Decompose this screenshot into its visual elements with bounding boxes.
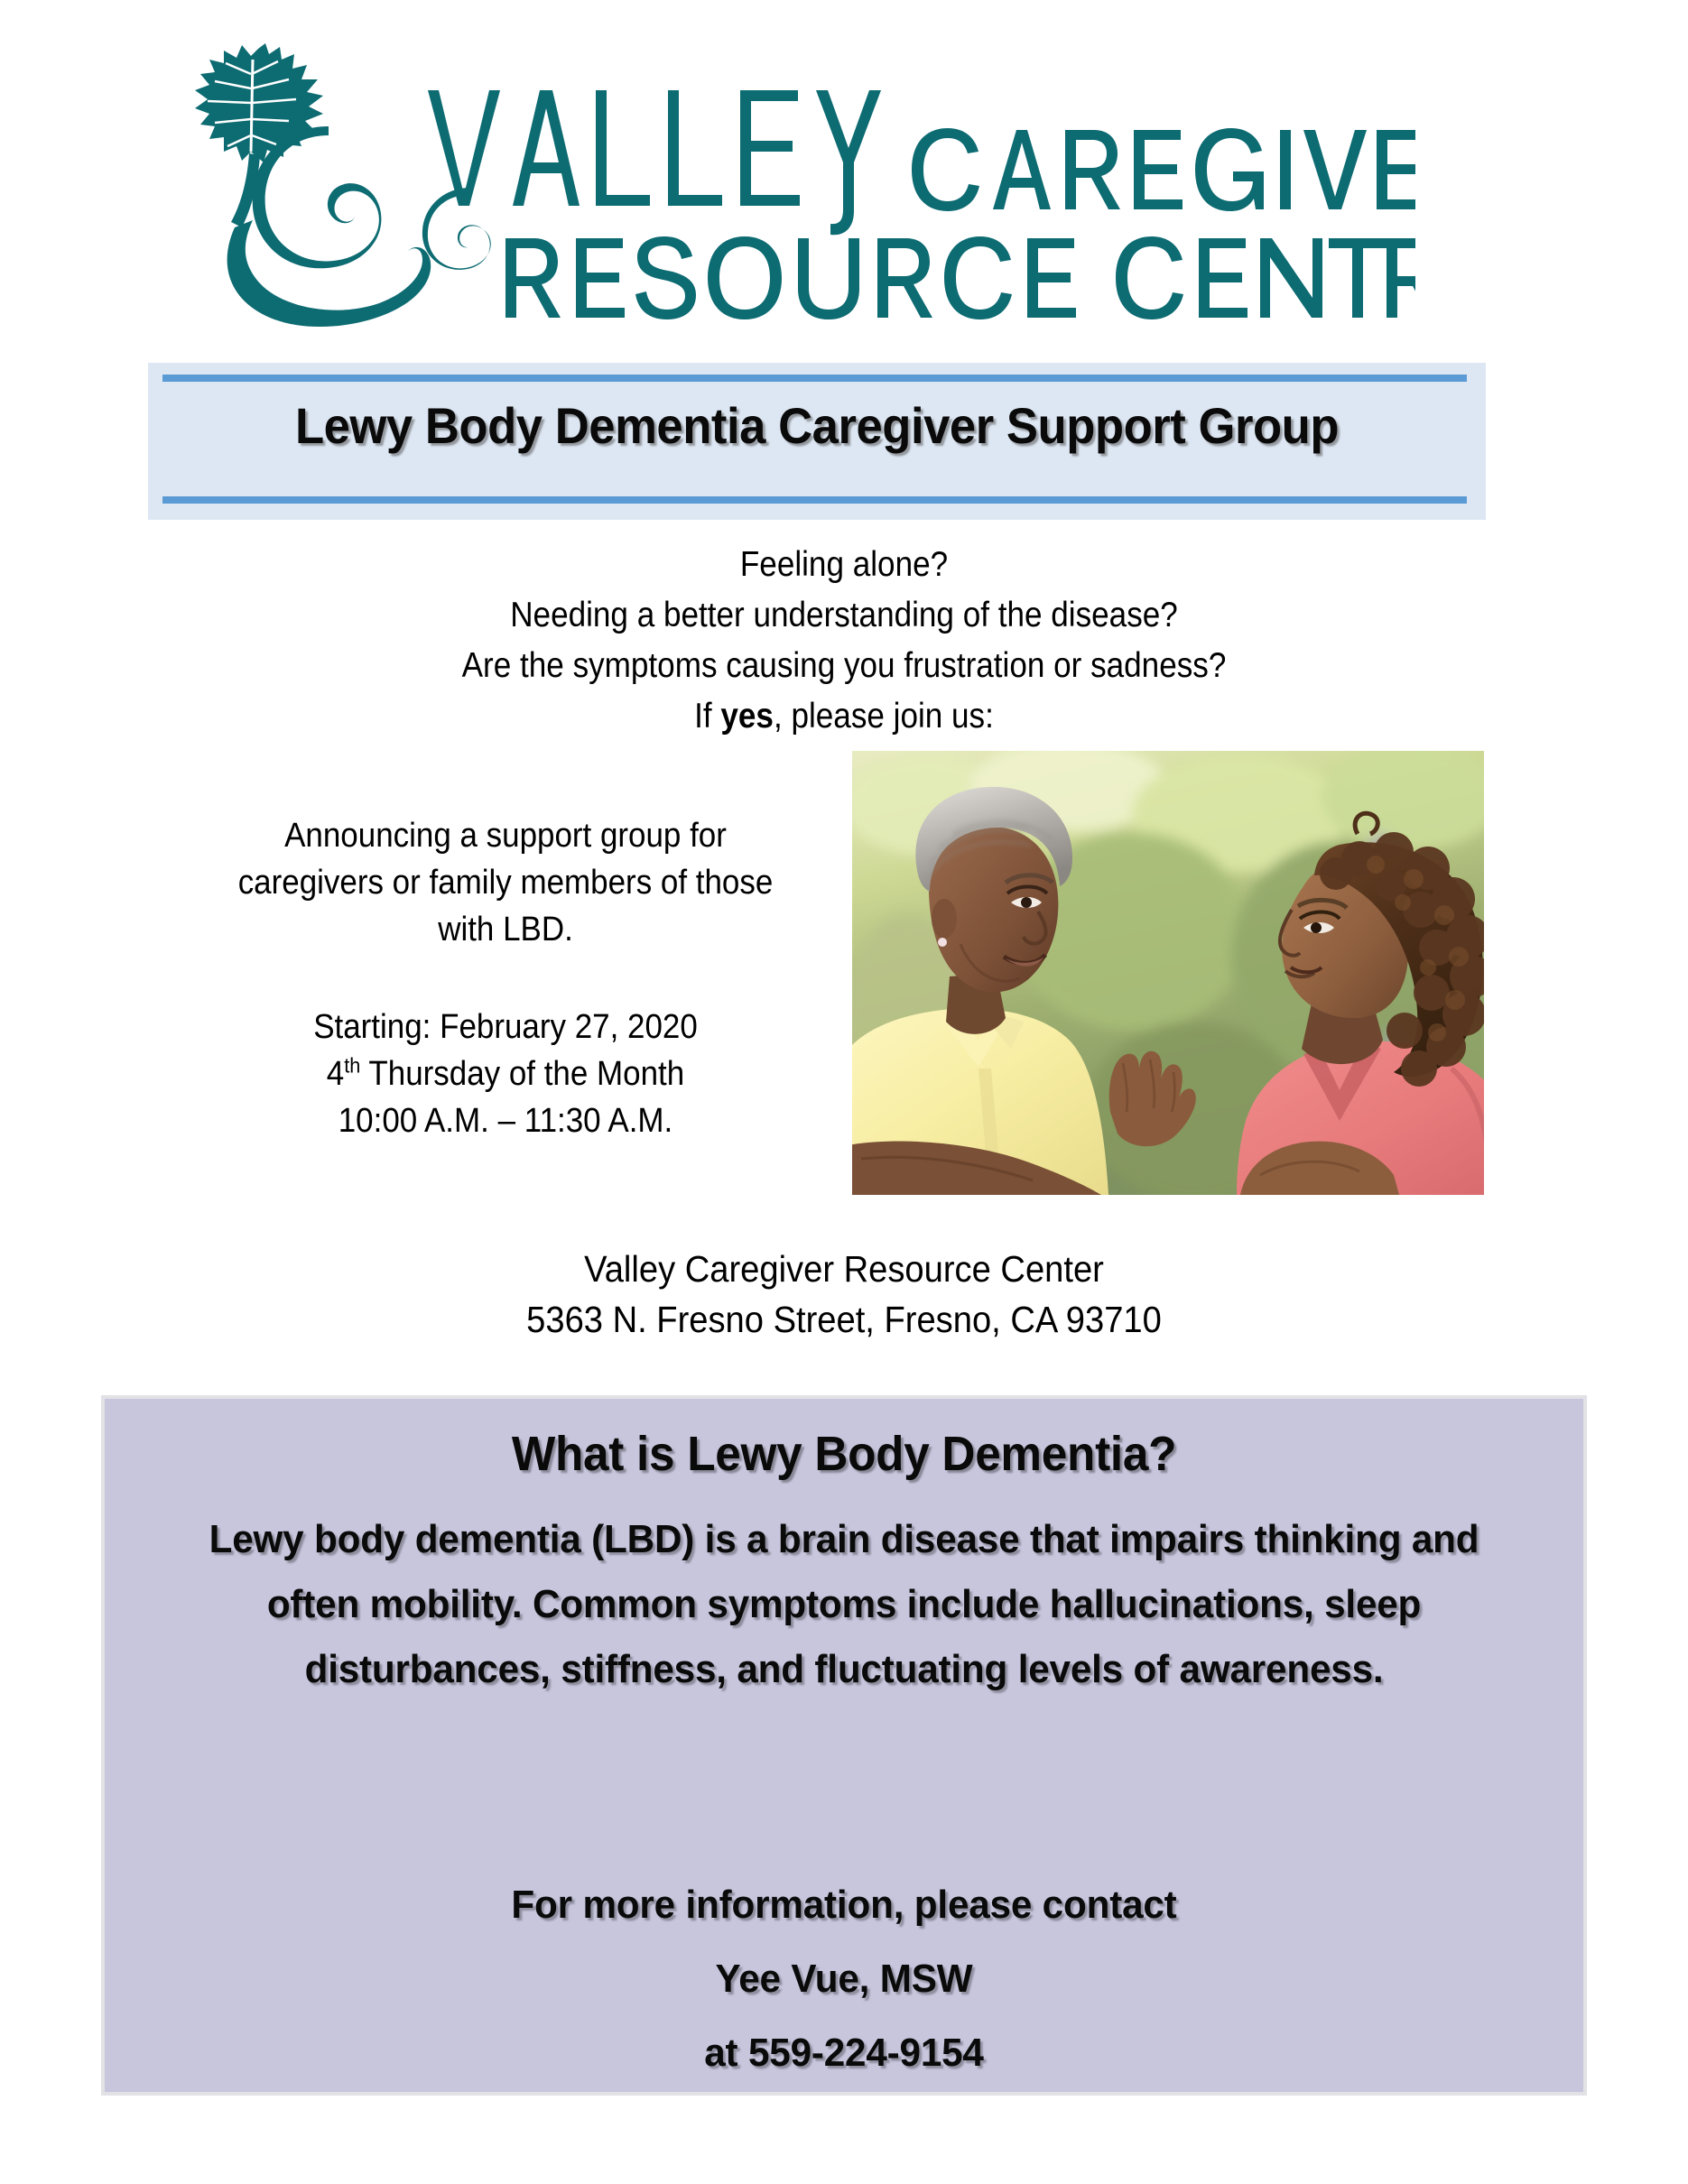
schedule-start-date: Starting: February 27, 2020 — [219, 1004, 793, 1050]
intro-line-3: Are the symptoms causing you frustration… — [85, 641, 1604, 691]
address-street-city: 5363 N. Fresno Street, Fresno, CA 93710 — [59, 1294, 1628, 1345]
schedule-details: Starting: February 27, 2020 4th Thursday… — [219, 1004, 793, 1144]
intro-line-4-suffix: , please join us: — [774, 697, 994, 736]
location-address: Valley Caregiver Resource Center 5363 N.… — [59, 1244, 1628, 1345]
intro-line-2: Needing a better understanding of the di… — [85, 590, 1604, 641]
recurrence-ordinal: th — [344, 1053, 360, 1077]
info-box-body: Lewy body dementia (LBD) is a brain dise… — [178, 1507, 1510, 1702]
lbd-info-box: What is Lewy Body Dementia? Lewy body de… — [101, 1395, 1587, 2096]
schedule-recurrence: 4th Thursday of the Month — [219, 1050, 793, 1097]
intro-line-4-prefix: If — [694, 697, 720, 736]
intro-line-1: Feeling alone? — [85, 540, 1604, 590]
recurrence-rest: Thursday of the Month — [360, 1055, 684, 1093]
recurrence-number: 4 — [327, 1055, 344, 1093]
page-title: Lewy Body Dementia Caregiver Support Gro… — [188, 397, 1445, 455]
flyer-title-banner: Lewy Body Dementia Caregiver Support Gro… — [148, 363, 1486, 520]
contact-phone[interactable]: at 559-224-9154 — [134, 2016, 1554, 2090]
announcement-paragraph: Announcing a support group for caregiver… — [219, 812, 793, 953]
banner-rule-bottom — [162, 496, 1467, 504]
intro-questions: Feeling alone? Needing a better understa… — [85, 540, 1604, 742]
schedule-time: 10:00 A.M. – 11:30 A.M. — [219, 1097, 793, 1144]
logo-artwork — [152, 34, 1415, 332]
contact-block: For more information, please contact Yee… — [134, 1868, 1554, 2090]
address-organization: Valley Caregiver Resource Center — [59, 1244, 1628, 1294]
announcement-spacer — [219, 953, 793, 1004]
contact-name: Yee Vue, MSW — [134, 1942, 1554, 2016]
intro-line-4-emphasis: yes — [720, 697, 774, 736]
banner-rule-top — [162, 375, 1467, 382]
announcement-block: Announcing a support group for caregiver… — [219, 812, 793, 1144]
organization-logo — [0, 0, 1688, 343]
info-box-heading: What is Lewy Body Dementia? — [142, 1424, 1546, 1484]
photo-illustration — [852, 751, 1484, 1195]
contact-intro: For more information, please contact — [134, 1868, 1554, 1942]
intro-line-4: If yes, please join us: — [85, 691, 1604, 742]
support-group-photo — [852, 751, 1484, 1195]
